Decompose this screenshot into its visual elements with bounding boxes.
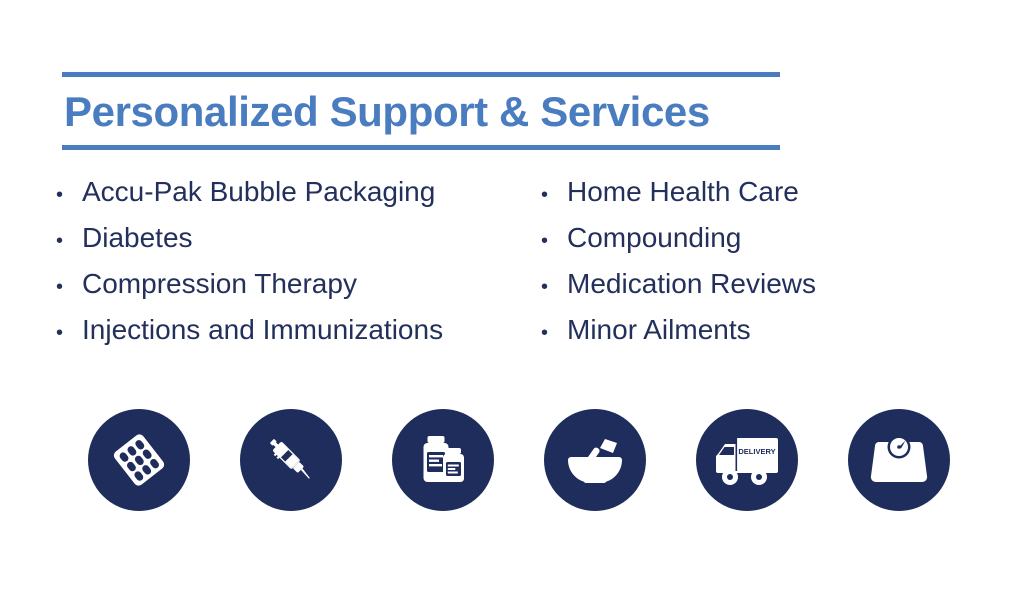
service-label: Accu-Pak Bubble Packaging [82, 178, 435, 206]
icon-row: DELIVERY [88, 409, 950, 511]
icon-badge-pill-bottles [392, 409, 494, 511]
heading-block: Personalized Support & Services [62, 72, 780, 150]
pill-bottles-icon [413, 430, 473, 490]
services-column-left: • Accu-Pak Bubble Packaging • Diabetes •… [52, 178, 537, 362]
list-item: • Minor Ailments [537, 316, 957, 362]
service-label: Diabetes [82, 224, 193, 252]
list-item: • Compounding [537, 224, 957, 270]
delivery-truck-icon: DELIVERY [712, 432, 782, 488]
page-title: Personalized Support & Services [62, 77, 780, 145]
list-item: • Compression Therapy [52, 270, 537, 316]
services-lists: • Accu-Pak Bubble Packaging • Diabetes •… [52, 178, 972, 362]
service-label: Compression Therapy [82, 270, 357, 298]
bullet-icon: • [537, 185, 567, 205]
service-label: Injections and Immunizations [82, 316, 443, 344]
icon-badge-mortar-pestle [544, 409, 646, 511]
list-item: • Home Health Care [537, 178, 957, 224]
list-item: • Accu-Pak Bubble Packaging [52, 178, 537, 224]
slide-root: Personalized Support & Services • Accu-P… [0, 0, 1025, 590]
icon-badge-delivery-truck: DELIVERY [696, 409, 798, 511]
truck-delivery-label: DELIVERY [738, 447, 775, 456]
services-column-right: • Home Health Care • Compounding • Medic… [537, 178, 957, 362]
list-item: • Medication Reviews [537, 270, 957, 316]
icon-badge-weight-scale [848, 409, 950, 511]
bullet-icon: • [537, 277, 567, 297]
service-label: Home Health Care [567, 178, 799, 206]
bullet-icon: • [52, 231, 82, 251]
list-item: • Injections and Immunizations [52, 316, 537, 362]
syringe-icon [260, 429, 322, 491]
bullet-icon: • [52, 277, 82, 297]
bullet-icon: • [52, 185, 82, 205]
icon-badge-syringe [240, 409, 342, 511]
weight-scale-icon [869, 432, 929, 488]
service-label: Minor Ailments [567, 316, 751, 344]
service-label: Medication Reviews [567, 270, 816, 298]
blister-pack-icon [108, 429, 170, 491]
service-label: Compounding [567, 224, 741, 252]
bullet-icon: • [52, 323, 82, 343]
bullet-icon: • [537, 231, 567, 251]
bullet-icon: • [537, 323, 567, 343]
heading-rule-bottom [62, 145, 780, 150]
mortar-pestle-icon [564, 429, 626, 491]
list-item: • Diabetes [52, 224, 537, 270]
icon-badge-blister-pack [88, 409, 190, 511]
